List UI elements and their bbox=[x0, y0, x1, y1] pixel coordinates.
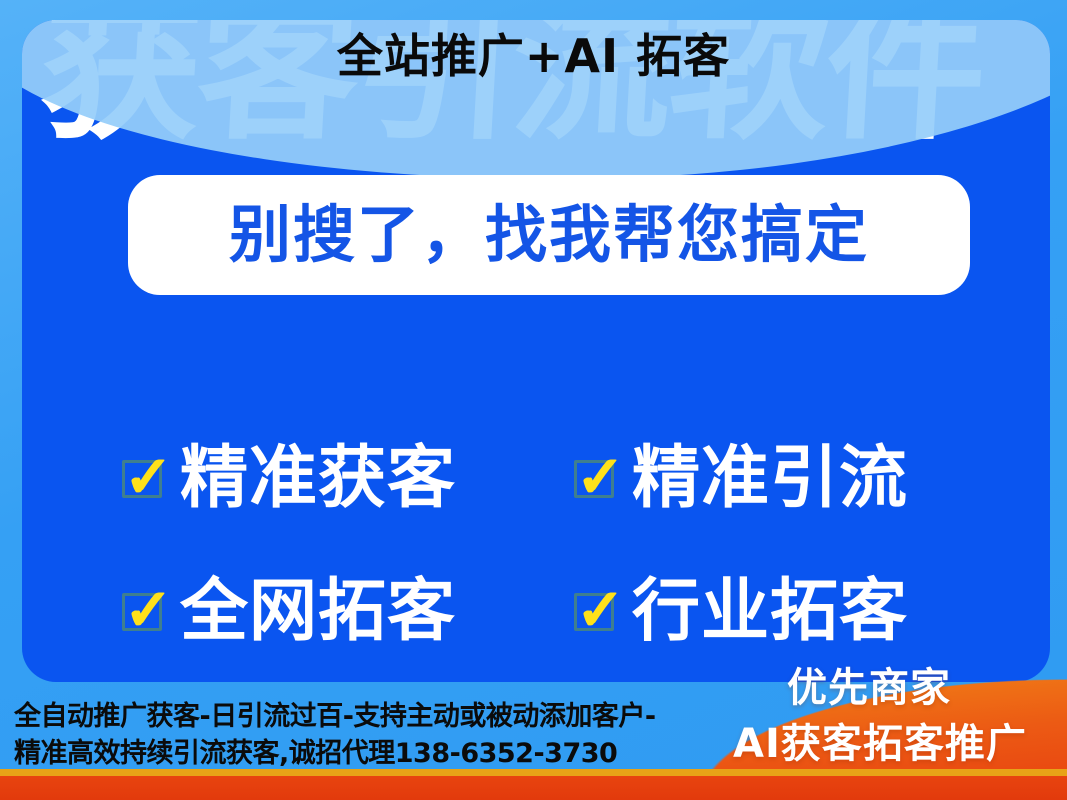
feature-label: 全网拓客 bbox=[180, 576, 456, 648]
checkbox-icon: ✓ bbox=[574, 460, 614, 498]
feature-item-precise-acquisition: ✓ 精准获客 bbox=[122, 412, 574, 545]
feature-item-whole-network: ✓ 全网拓客 bbox=[122, 545, 574, 678]
slogan-pill: 别搜了，找我帮您搞定 bbox=[128, 175, 970, 295]
promo-line-1: 全自动推广获客-日引流过百-支持主动或被动添加客户- bbox=[14, 698, 704, 735]
promo-poster: 获客引流软件 别搜了，找我帮您搞定 ✓ 精准获客 ✓ 精准引流 ✓ bbox=[0, 0, 1067, 800]
check-icon: ✓ bbox=[121, 582, 175, 636]
badge-line-primary: 优先商家 bbox=[733, 665, 1067, 711]
bottom-yellow-strip bbox=[0, 769, 1067, 776]
checkbox-icon: ✓ bbox=[122, 593, 162, 631]
overlay-title: 全站推广+AI 拓客 bbox=[0, 28, 1067, 84]
checkbox-icon: ✓ bbox=[574, 593, 614, 631]
checkbox-icon: ✓ bbox=[122, 460, 162, 498]
check-icon: ✓ bbox=[573, 582, 627, 636]
check-icon: ✓ bbox=[573, 449, 627, 503]
inner-blue-panel: 获客引流软件 别搜了，找我帮您搞定 ✓ 精准获客 ✓ 精准引流 ✓ bbox=[22, 20, 1050, 682]
promo-line-2: 精准高效持续引流获客,诚招代理138-6352-3730 bbox=[14, 735, 704, 772]
promo-copy: 全自动推广获客-日引流过百-支持主动或被动添加客户- 精准高效持续引流获客,诚招… bbox=[14, 698, 704, 772]
check-icon: ✓ bbox=[121, 449, 175, 503]
slogan-text: 别搜了，找我帮您搞定 bbox=[229, 202, 869, 268]
bottom-red-strip bbox=[0, 776, 1067, 800]
feature-item-precise-traffic: ✓ 精准引流 bbox=[574, 412, 1002, 545]
badge-line-secondary: AI获客拓客推广 bbox=[733, 721, 1067, 767]
feature-label: 精准引流 bbox=[632, 443, 908, 515]
feature-label: 精准获客 bbox=[180, 443, 456, 515]
